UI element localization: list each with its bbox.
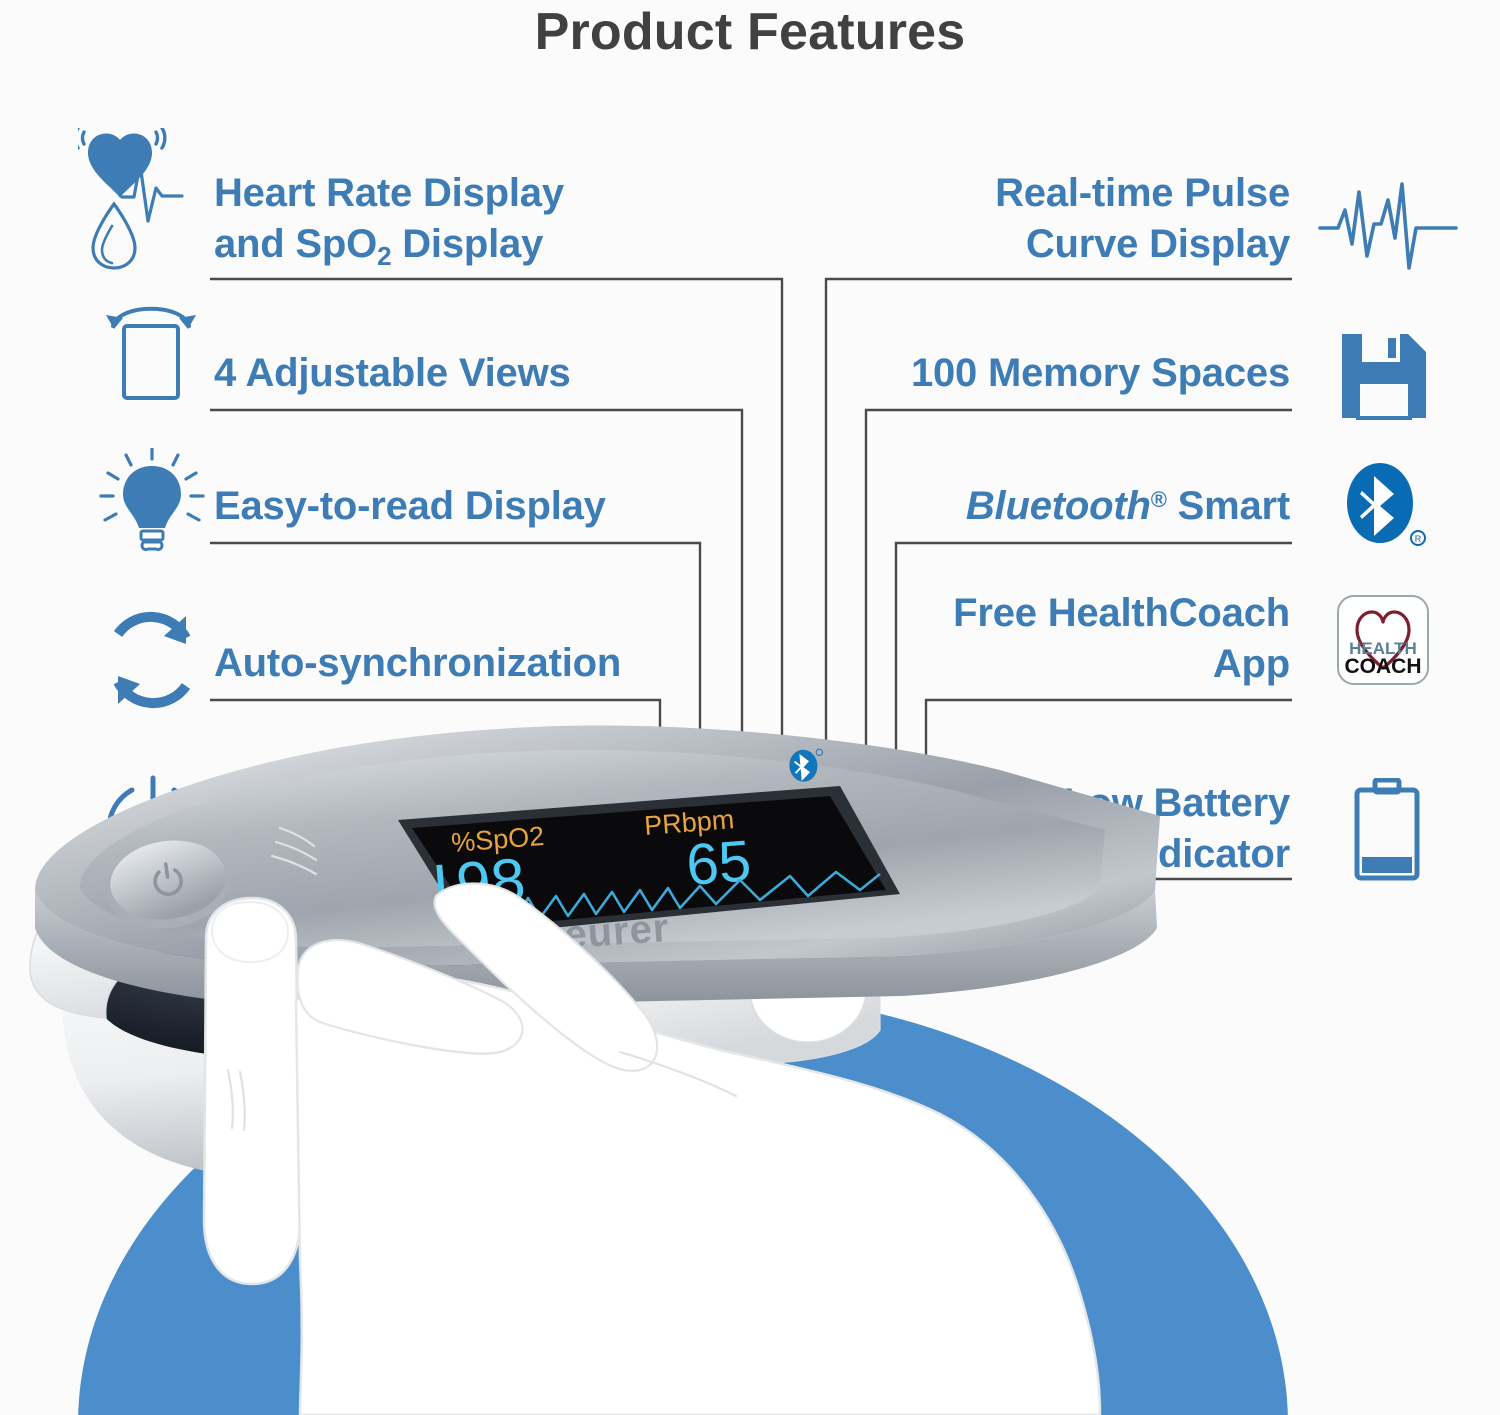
floppy-disk-icon xyxy=(1338,330,1430,422)
healthcoach-label-line2: App xyxy=(670,639,1290,690)
pulse-oximeter-product-photo: %SpO2 PRbpm I 98 65 xyxy=(0,700,1500,1415)
healthcoach-line2: COACH xyxy=(1345,655,1422,678)
feature-label-memory-spaces: 100 Memory Spaces xyxy=(670,348,1290,399)
pulse-curve-line2: Curve Display xyxy=(670,219,1290,270)
feature-label-healthcoach-app: Free HealthCoach App xyxy=(670,588,1290,690)
spo2-post: Display xyxy=(391,222,543,266)
feature-label-bluetooth-smart: Bluetooth® Smart xyxy=(670,481,1290,532)
product-features-infographic: Product Features xyxy=(0,0,1500,1415)
ecg-wave-icon xyxy=(1318,180,1458,276)
bluetooth-word: Bluetooth xyxy=(966,484,1151,528)
rotate-screen-icon xyxy=(95,293,207,405)
healthcoach-label-line1: Free HealthCoach xyxy=(670,588,1290,639)
smart-word: Smart xyxy=(1167,484,1290,528)
heart-pulse-drop-icon xyxy=(78,128,208,273)
bluetooth-logo-icon: R xyxy=(1340,462,1430,554)
healthcoach-app-icon: HEALTH COACH xyxy=(1334,592,1432,688)
lightbulb-icon xyxy=(95,448,210,560)
sync-arrows-icon xyxy=(98,608,206,712)
feature-label-pulse-curve: Real-time Pulse Curve Display xyxy=(670,168,1290,270)
svg-text:R: R xyxy=(1415,534,1422,544)
spo2-pre: and SpO xyxy=(214,222,377,266)
fingernail xyxy=(212,902,288,962)
device-illustration: %SpO2 PRbpm I 98 65 xyxy=(0,700,1500,1415)
pulse-rate-value: 65 xyxy=(684,828,753,898)
registered-mark: ® xyxy=(1151,487,1167,512)
pulse-curve-line1: Real-time Pulse xyxy=(670,168,1290,219)
spo2-subscript: 2 xyxy=(377,241,391,271)
